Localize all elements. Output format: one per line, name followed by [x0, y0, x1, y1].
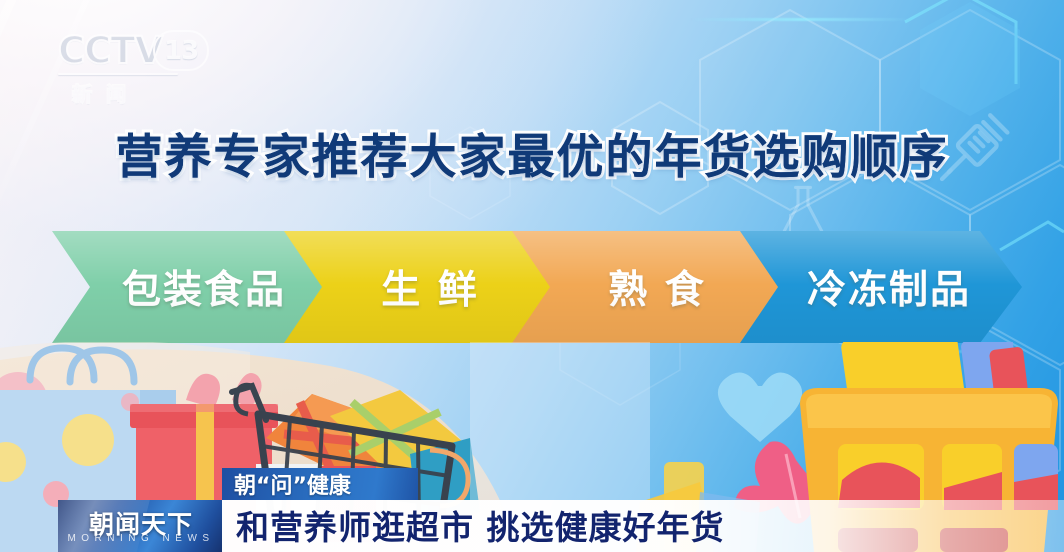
channel-logo-number: 13 — [153, 30, 209, 71]
channel-logo-sub: 新闻 — [58, 78, 218, 107]
step-fresh-food[interactable]: 生 鲜 — [284, 231, 560, 343]
channel-logo: CCTV 13 新闻 — [58, 30, 218, 102]
heart-decoration — [718, 373, 802, 442]
program-logo: 朝闻天下 MORNING NEWS — [58, 500, 224, 552]
topic-badge-label: 朝“问”健康 — [222, 468, 351, 500]
chevron-gloss — [512, 231, 786, 343]
lower-third: 朝闻天下 MORNING NEWS 朝“问”健康 和营养师逛超市 挑选健康好年货 — [0, 460, 1064, 552]
topic-badge: 朝“问”健康 — [222, 468, 418, 500]
program-name-en: MORNING NEWS — [58, 533, 224, 544]
step-flow: 包装食品 生 鲜 熟 食 冷冻制品 — [52, 231, 1016, 343]
channel-logo-rule — [58, 73, 178, 75]
broadcast-screen: CCTV 13 新闻 营养专家推荐大家最优的年货选购顺序 营养专家推荐大家最优的… — [0, 0, 1064, 552]
page-title: 营养专家推荐大家最优的年货选购顺序 营养专家推荐大家最优的年货选购顺序 — [0, 118, 1064, 187]
glow-line — [690, 18, 910, 21]
step-cooked-food[interactable]: 熟 食 — [512, 231, 786, 343]
news-headline-text: 和营养师逛超市 挑选健康好年货 — [236, 501, 725, 549]
news-headline-bar: 和营养师逛超市 挑选健康好年货 — [222, 500, 1064, 552]
page-title-fill: 营养专家推荐大家最优的年货选购顺序 — [116, 118, 949, 187]
step-frozen-food[interactable]: 冷冻制品 — [740, 231, 1022, 343]
chevron-gloss — [284, 231, 560, 343]
channel-logo-main: CCTV — [58, 31, 162, 71]
chevron-gloss — [740, 231, 1022, 343]
